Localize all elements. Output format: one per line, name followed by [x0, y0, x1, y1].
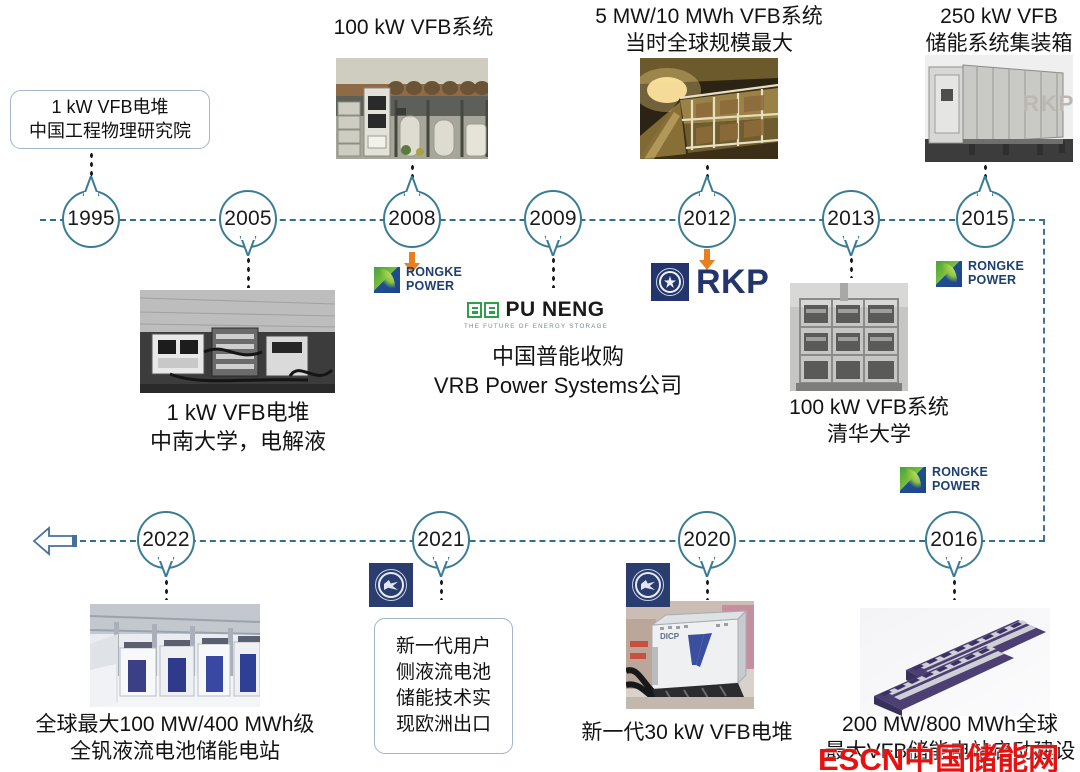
rongke-leaf-mark-icon [374, 267, 400, 293]
year-marker-1995[interactable]: 1995 [62, 190, 120, 248]
photo-2013-vfb-rack [790, 283, 908, 391]
year-label: 2021 [417, 528, 465, 552]
year-marker-2015[interactable]: 2015 [956, 190, 1014, 248]
year-marker-2022[interactable]: 2022 [137, 511, 195, 569]
rongke-wordmark: RONGKE POWER [932, 466, 988, 493]
year-label: 2016 [930, 528, 978, 552]
caption-2022: 全球最大100 MW/400 MWh级 全钒液流电池储能电站 [10, 711, 340, 766]
callout-line: 新一代用户 [396, 634, 491, 660]
photo-2016-vfb-stack-array [860, 608, 1050, 716]
pu-neng-mark-icon [467, 302, 499, 318]
bubble-tail-icon [402, 176, 422, 202]
year-marker-2020[interactable]: 2020 [678, 511, 736, 569]
rongke-wordmark: RONGKE POWER [968, 260, 1024, 287]
logo-rkp-2012: RKP [651, 263, 769, 301]
bubble-tail-icon [697, 557, 717, 583]
dicp-emblem-icon [369, 563, 413, 607]
year-label: 2008 [388, 207, 436, 231]
logo-rongke-power-2015: RONGKE POWER [936, 260, 1024, 287]
caption-2012: 5 MW/10 MWh VFB系统 当时全球规模最大 [576, 3, 842, 58]
callout-line: 现欧洲出口 [396, 712, 491, 738]
year-label: 2015 [961, 207, 1009, 231]
timeline-figure: 1995 2005 2008 2009 2012 2013 20 [0, 0, 1080, 772]
bubble-tail-icon [238, 236, 258, 262]
photo-2012-vfb-warehouse [640, 58, 778, 159]
year-label: 2013 [827, 207, 875, 231]
caption-2009: 中国普能收购 VRB Power Systems公司 [424, 343, 692, 400]
year-marker-2005[interactable]: 2005 [219, 190, 277, 248]
bubble-tail-icon [944, 557, 964, 583]
pu-neng-tagline: THE FUTURE OF ENERGY STORAGE [464, 323, 608, 330]
pu-neng-wordmark: PU NENG [505, 298, 604, 322]
year-marker-2008[interactable]: 2008 [383, 190, 441, 248]
caption-2020: 新一代30 kW VFB电堆 [562, 719, 812, 746]
bubble-tail-icon [156, 557, 176, 583]
rkp-wordmark: RKP [696, 265, 769, 299]
caption-2008: 100 kW VFB系统 [306, 14, 521, 41]
year-marker-2009[interactable]: 2009 [524, 190, 582, 248]
callout-1995: 1 kW VFB电堆 中国工程物理研究院 [10, 90, 210, 149]
svg-text:RKP: RKP [1023, 91, 1073, 116]
watermark-escn: ESCN中国储能网 [818, 734, 1059, 772]
callout-line: 储能技术实 [396, 686, 491, 712]
logo-rongke-power-2008: RONGKE POWER [374, 266, 462, 293]
caption-2015: 250 kW VFB 储能系统集装箱 [892, 3, 1080, 58]
photo-2022-vfb-station [90, 604, 260, 707]
rongke-wordmark: RONGKE POWER [406, 266, 462, 293]
bubble-tail-icon [975, 176, 995, 202]
rongke-leaf-mark-icon [900, 467, 926, 493]
year-marker-2013[interactable]: 2013 [822, 190, 880, 248]
year-label: 2005 [224, 207, 272, 231]
photo-2020-vfb-stack: DICP [626, 601, 754, 709]
logo-pu-neng-2009: PU NENG THE FUTURE OF ENERGY STORAGE [464, 298, 608, 330]
callout-2021: 新一代用户 侧液流电池 储能技术实 现欧洲出口 [374, 618, 513, 754]
year-label: 2012 [683, 207, 731, 231]
year-marker-2021[interactable]: 2021 [412, 511, 470, 569]
year-label: 1995 [67, 207, 115, 231]
timeline-rail-right-vertical [1043, 219, 1045, 541]
svg-text:DICP: DICP [660, 632, 680, 641]
photo-2005-vfb-stack [140, 290, 335, 393]
logo-rongke-power-2016: RONGKE POWER [900, 466, 988, 493]
dicp-emblem-icon [626, 563, 670, 607]
callout-line: 侧液流电池 [396, 660, 491, 686]
year-label: 2009 [529, 207, 577, 231]
bubble-tail-icon [81, 176, 101, 202]
caption-2013: 100 kW VFB系统 清华大学 [749, 394, 989, 449]
caption-2005: 1 kW VFB电堆 中南大学，电解液 [108, 399, 368, 456]
bubble-tail-icon [543, 236, 563, 262]
rongke-leaf-mark-icon [936, 261, 962, 287]
photo-2015-vfb-container: RKP [925, 55, 1073, 162]
rkp-emblem-icon [651, 263, 689, 301]
year-marker-2012[interactable]: 2012 [678, 190, 736, 248]
photo-2008-vfb-system [336, 58, 488, 159]
callout-line: 1 kW VFB电堆 [51, 96, 168, 120]
bubble-tail-icon [697, 176, 717, 202]
bubble-tail-icon [431, 557, 451, 583]
year-label: 2022 [142, 528, 190, 552]
year-marker-2016[interactable]: 2016 [925, 511, 983, 569]
callout-line: 中国工程物理研究院 [29, 120, 191, 144]
year-label: 2020 [683, 528, 731, 552]
logo-dicp-2021 [369, 563, 413, 607]
timeline-end-arrow-icon [32, 524, 78, 558]
logo-dicp-2020 [626, 563, 670, 607]
bubble-tail-icon [841, 236, 861, 262]
